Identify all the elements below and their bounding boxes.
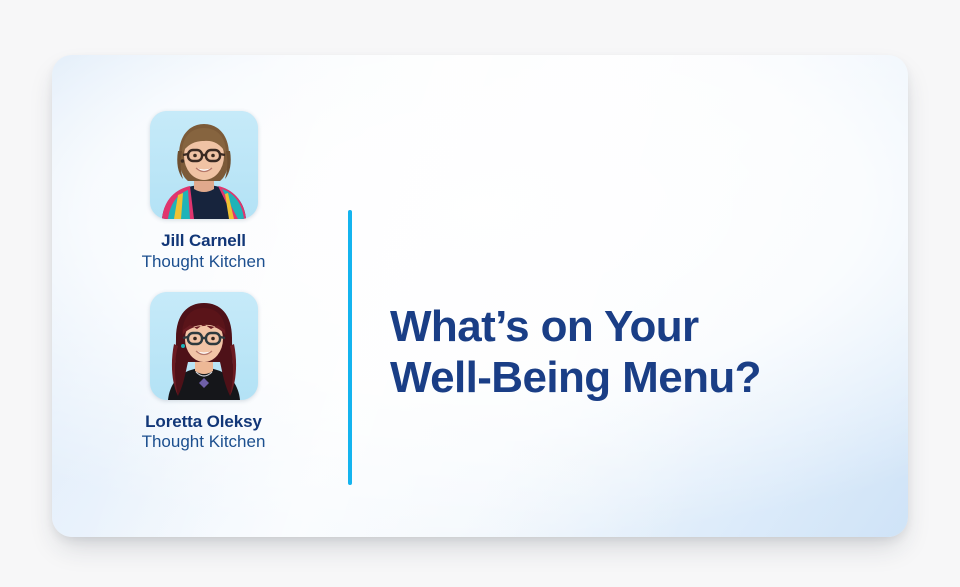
avatar bbox=[150, 111, 258, 219]
headshot-loretta-oleksy-icon bbox=[150, 292, 258, 400]
page-title: What’s on Your Well-Being Menu? bbox=[390, 301, 870, 404]
speaker-name: Jill Carnell bbox=[108, 231, 299, 251]
speaker-card-jill-carnell: Jill Carnell Thought Kitchen bbox=[108, 111, 299, 272]
title-line-1: What’s on Your bbox=[390, 301, 870, 352]
speaker-name: Loretta Oleksy bbox=[108, 412, 299, 432]
speaker-card-loretta-oleksy: Loretta Oleksy Thought Kitchen bbox=[108, 292, 299, 453]
headshot-jill-carnell-icon bbox=[150, 111, 258, 219]
presentation-slide-card: Jill Carnell Thought Kitchen bbox=[52, 55, 908, 537]
speakers-list: Jill Carnell Thought Kitchen bbox=[108, 111, 299, 453]
vertical-divider bbox=[348, 210, 352, 485]
speaker-organization: Thought Kitchen bbox=[108, 252, 299, 272]
title-line-2: Well-Being Menu? bbox=[390, 352, 870, 403]
avatar bbox=[150, 292, 258, 400]
speaker-organization: Thought Kitchen bbox=[108, 432, 299, 452]
